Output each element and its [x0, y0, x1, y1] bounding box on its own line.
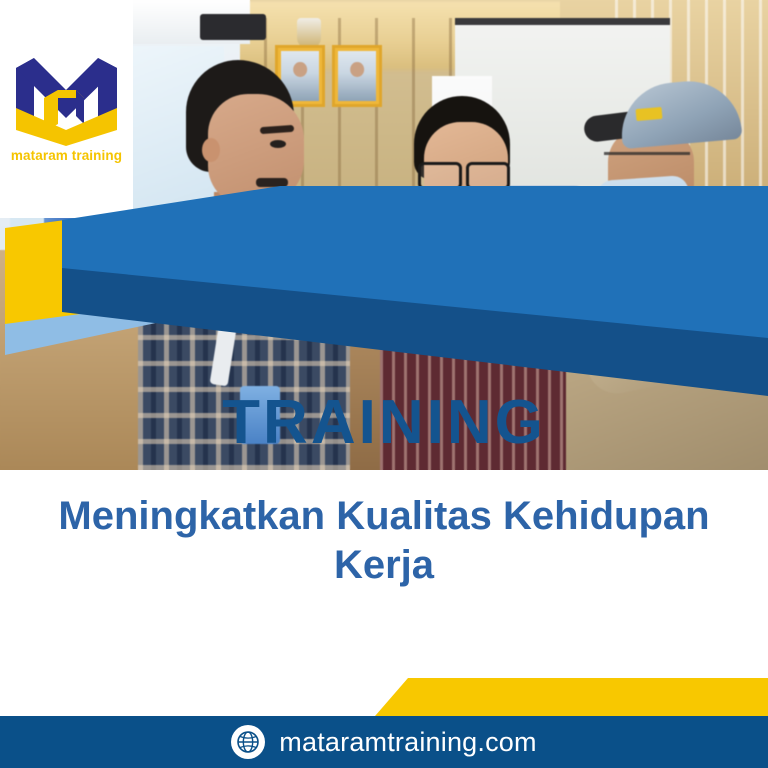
training-poster: mataram training TRAINING Meningkatkan K…	[0, 0, 768, 768]
website-url[interactable]: mataramtraining.com	[279, 727, 536, 758]
page-subtitle: Meningkatkan Kualitas Kehidupan Kerja	[34, 492, 734, 590]
brand-logo-text: mataram training	[0, 148, 133, 163]
projector-mount	[200, 14, 266, 40]
page-title: TRAINING	[0, 392, 768, 454]
footer-bar: mataramtraining.com	[0, 716, 768, 768]
globe-icon	[231, 725, 265, 759]
wall-emblem	[297, 18, 321, 48]
footer-yellow-wedge	[0, 678, 768, 718]
mataram-m-logo-icon	[14, 46, 119, 146]
